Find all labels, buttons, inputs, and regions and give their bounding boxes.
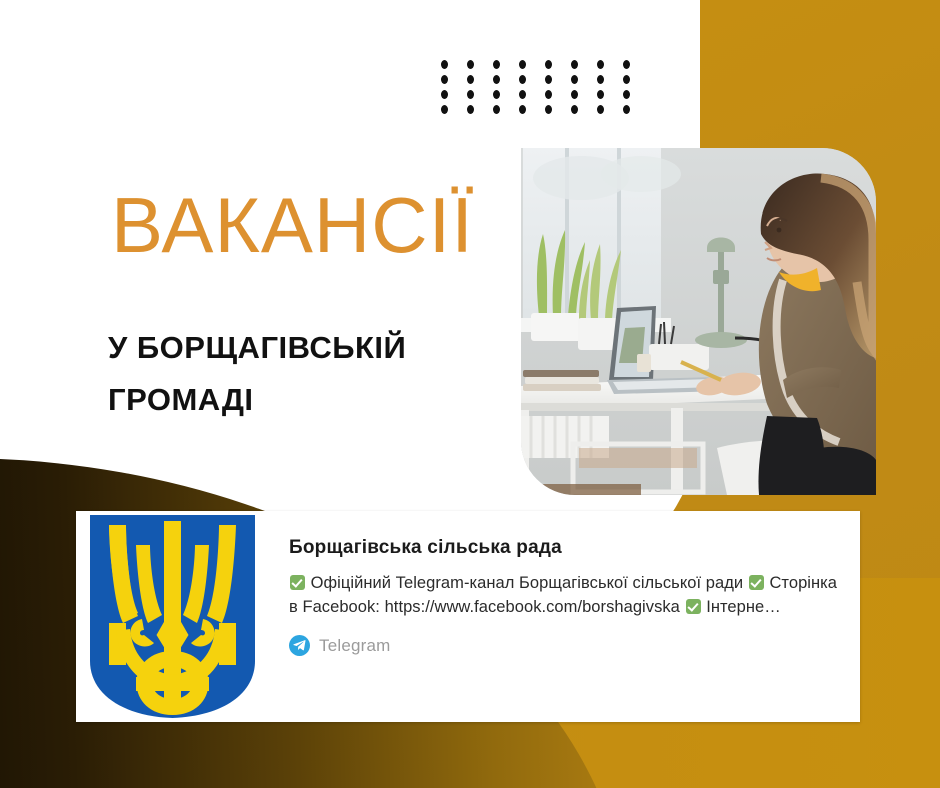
ukraine-coat-of-arms [76,511,269,722]
desc-part-3: Інтерне… [706,598,781,616]
grid-dot [545,90,552,99]
grid-dot [597,90,604,99]
telegram-source-label: Telegram [319,636,391,656]
grid-dot [597,105,604,114]
grid-dot [597,60,604,69]
grid-dot [519,75,526,84]
grid-dot [441,90,448,99]
grid-dot [493,75,500,84]
grid-dot [623,75,630,84]
grid-dot [623,105,630,114]
grid-dot [545,60,552,69]
grid-dot [519,90,526,99]
grid-dot [467,90,474,99]
office-photo [521,148,876,495]
check-icon [290,575,305,590]
grid-dot [493,90,500,99]
dot-grid-decoration [441,60,649,120]
grid-dot [441,60,448,69]
grid-dot [441,105,448,114]
grid-dot [571,90,578,99]
check-icon [686,599,701,614]
grid-dot [623,90,630,99]
grid-dot [467,105,474,114]
grid-dot [519,105,526,114]
grid-dot [493,60,500,69]
grid-dot [493,105,500,114]
grid-dot [597,75,604,84]
grid-dot [441,75,448,84]
page-subtitle: У БОРЩАГІВСЬКІЙ ГРОМАДІ [108,322,538,426]
headline-block: ВАКАНСІЇ [111,185,474,265]
office-photo-illustration [521,148,876,495]
telegram-link-card[interactable]: Борщагівська сільська рада Офіційний Tel… [76,511,860,722]
page-title: ВАКАНСІЇ [111,185,474,265]
grid-dot [571,105,578,114]
tryzub-icon [76,511,269,722]
telegram-card-title: Борщагівська сільська рада [289,537,840,559]
grid-dot [545,75,552,84]
telegram-icon [289,635,310,656]
grid-dot [571,60,578,69]
grid-dot [467,60,474,69]
grid-dot [571,75,578,84]
telegram-card-footer[interactable]: Telegram [289,635,840,656]
desc-part-1: Офіційний Telegram-канал Борщагівської с… [311,574,744,592]
grid-dot [467,75,474,84]
check-icon [749,575,764,590]
telegram-card-description: Офіційний Telegram-канал Борщагівської с… [289,571,840,619]
grid-dot [519,60,526,69]
grid-dot [545,105,552,114]
grid-dot [623,60,630,69]
poster-canvas: ВАКАНСІЇ У БОРЩАГІВСЬКІЙ ГРОМАДІ [0,0,940,788]
telegram-card-body: Борщагівська сільська рада Офіційний Tel… [269,511,860,722]
